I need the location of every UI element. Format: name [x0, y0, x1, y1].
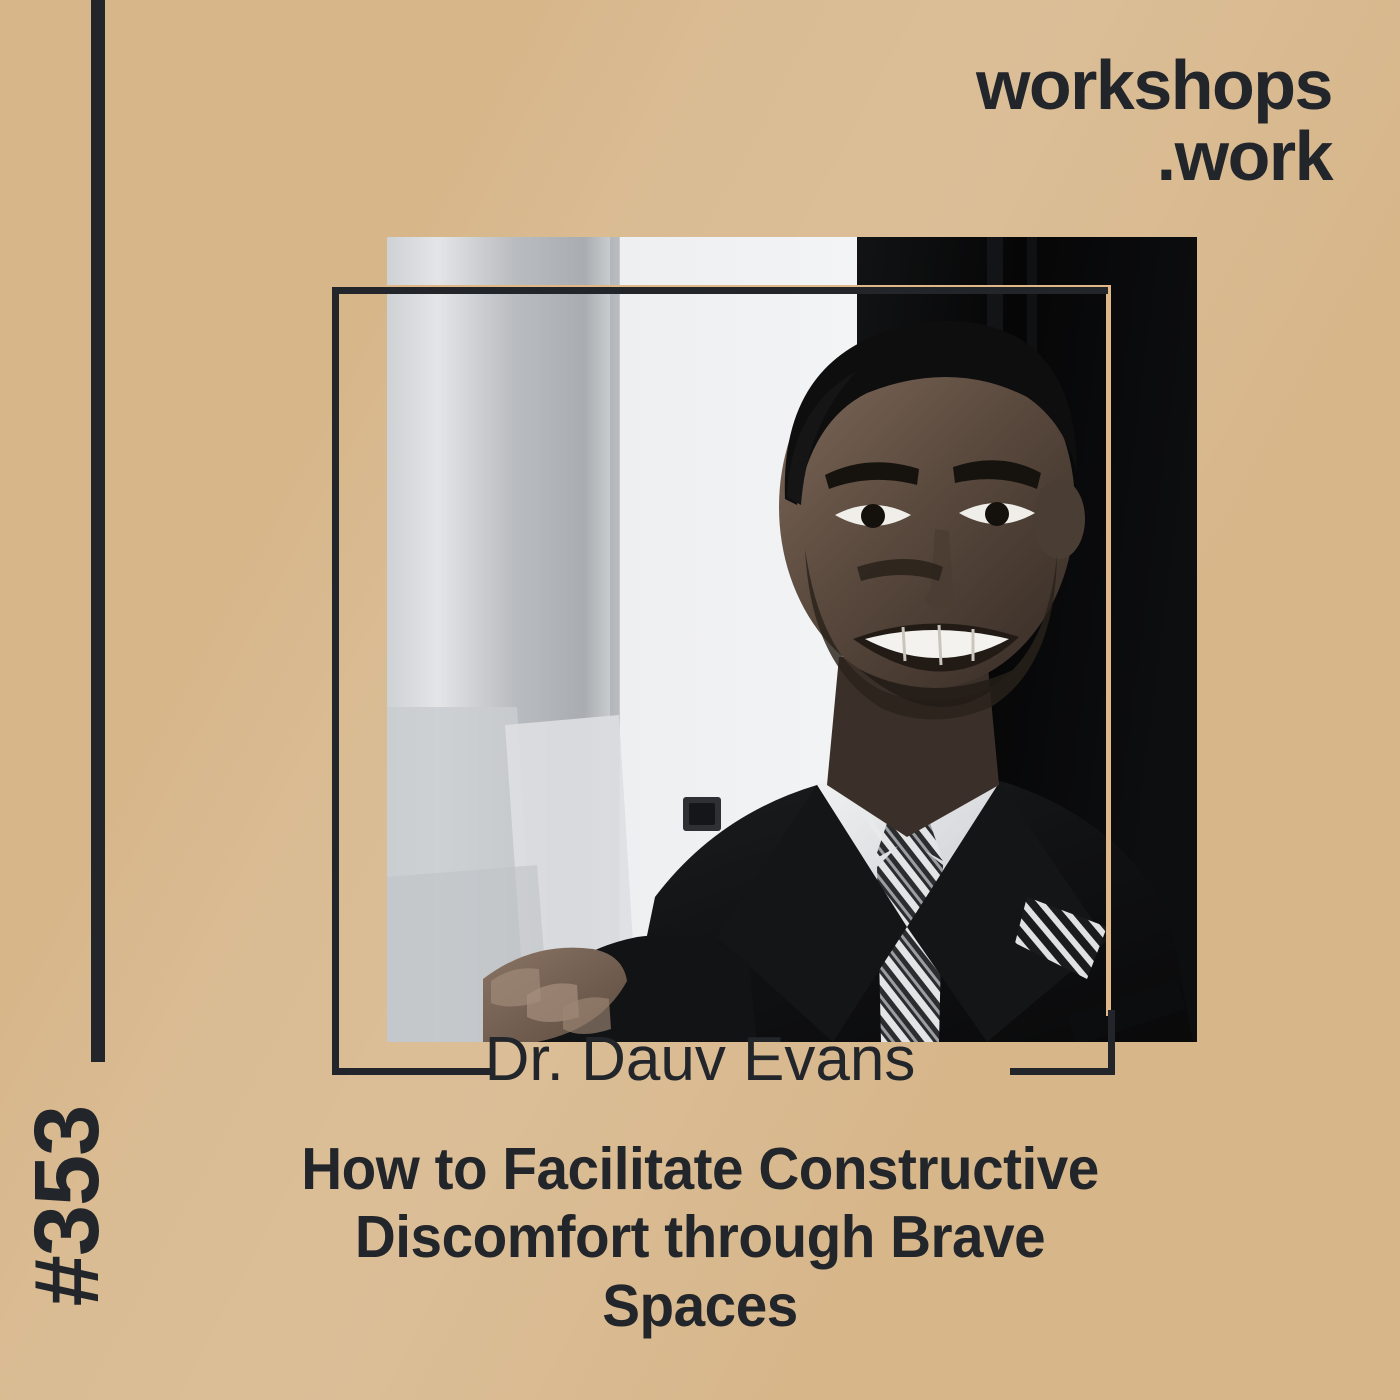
episode-title-line-1: How to Facilitate Constructive	[268, 1135, 1132, 1203]
brand-logo[interactable]: workshops .work	[976, 50, 1332, 193]
gold-frame-right-line	[1106, 285, 1111, 1016]
episode-title-line-3: Spaces	[268, 1272, 1132, 1340]
episode-title-line-2: Discomfort through Brave	[268, 1203, 1132, 1271]
portrait-illustration	[387, 237, 1197, 1042]
episode-number: #353	[21, 1076, 113, 1336]
brand-line-work: .work	[976, 121, 1332, 192]
podcast-cover-art: workshops .work #353	[0, 0, 1400, 1400]
guest-portrait-photo	[387, 237, 1197, 1042]
dark-frame-top-line	[332, 287, 1108, 294]
episode-title: How to Facilitate Constructive Discomfor…	[268, 1135, 1132, 1340]
brand-line-workshops: workshops	[976, 46, 1332, 124]
dark-frame-left-line	[332, 287, 339, 1075]
left-vertical-rule	[91, 0, 105, 1062]
guest-name: Dr. Dauv Evans	[0, 1029, 1400, 1091]
